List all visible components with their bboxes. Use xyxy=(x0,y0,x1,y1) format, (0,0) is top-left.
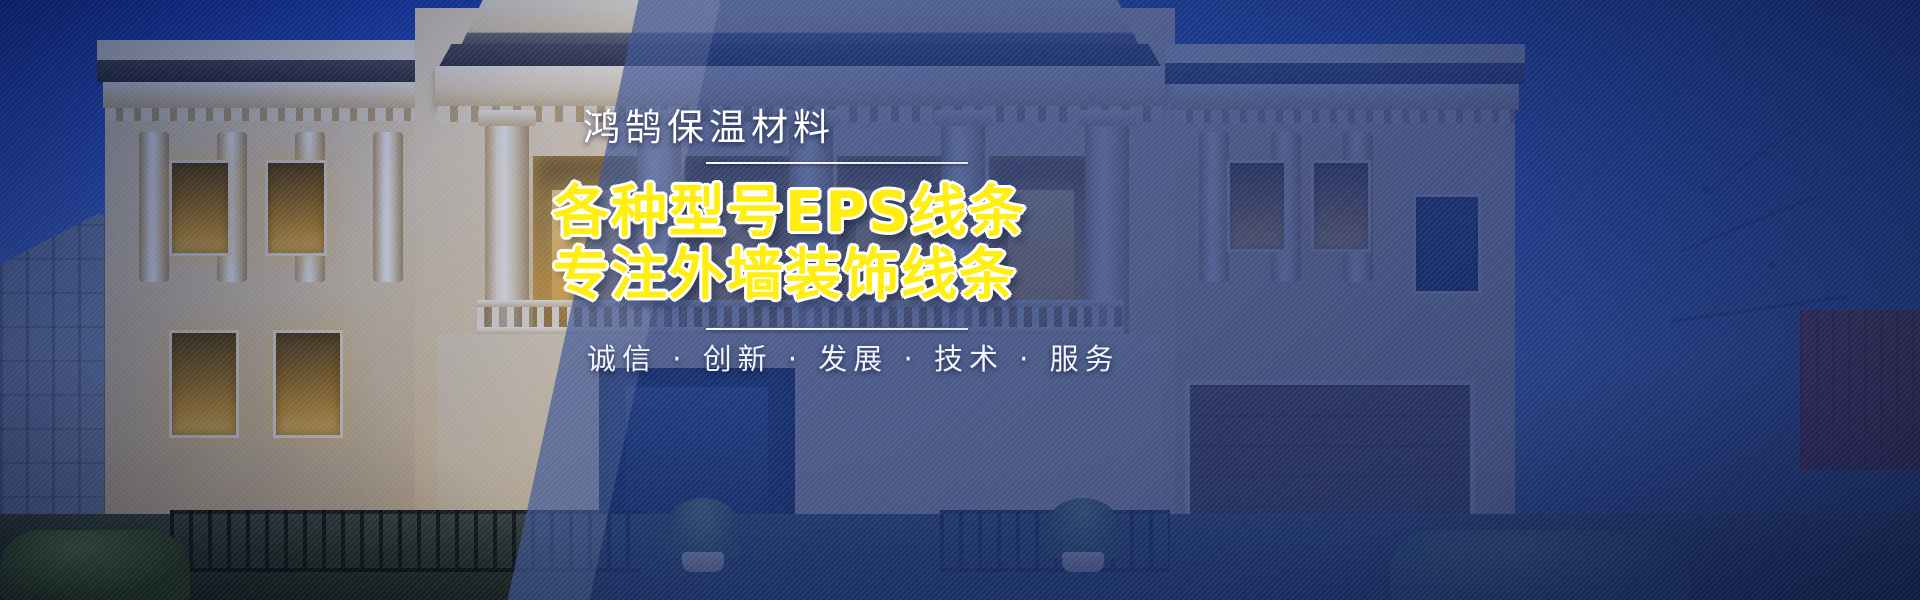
tagline: 诚信 · 创新 · 发展 · 技术 · 服务 xyxy=(587,336,1120,378)
hero-banner: 鸿鹄保温材料 各种型号EPS线条 专注外墙装饰线条 诚信 · 创新 · 发展 ·… xyxy=(0,0,1920,600)
divider-bottom xyxy=(706,328,968,330)
brand-name: 鸿鹄保温材料 xyxy=(583,108,835,149)
divider-top xyxy=(706,162,968,164)
headline-line-2: 专注外墙装饰线条 xyxy=(553,244,1027,307)
headline: 各种型号EPS线条 专注外墙装饰线条 xyxy=(553,181,1027,307)
banner-copy: 鸿鹄保温材料 各种型号EPS线条 专注外墙装饰线条 诚信 · 创新 · 发展 ·… xyxy=(0,0,1920,600)
headline-line-1: 各种型号EPS线条 xyxy=(553,181,1027,244)
